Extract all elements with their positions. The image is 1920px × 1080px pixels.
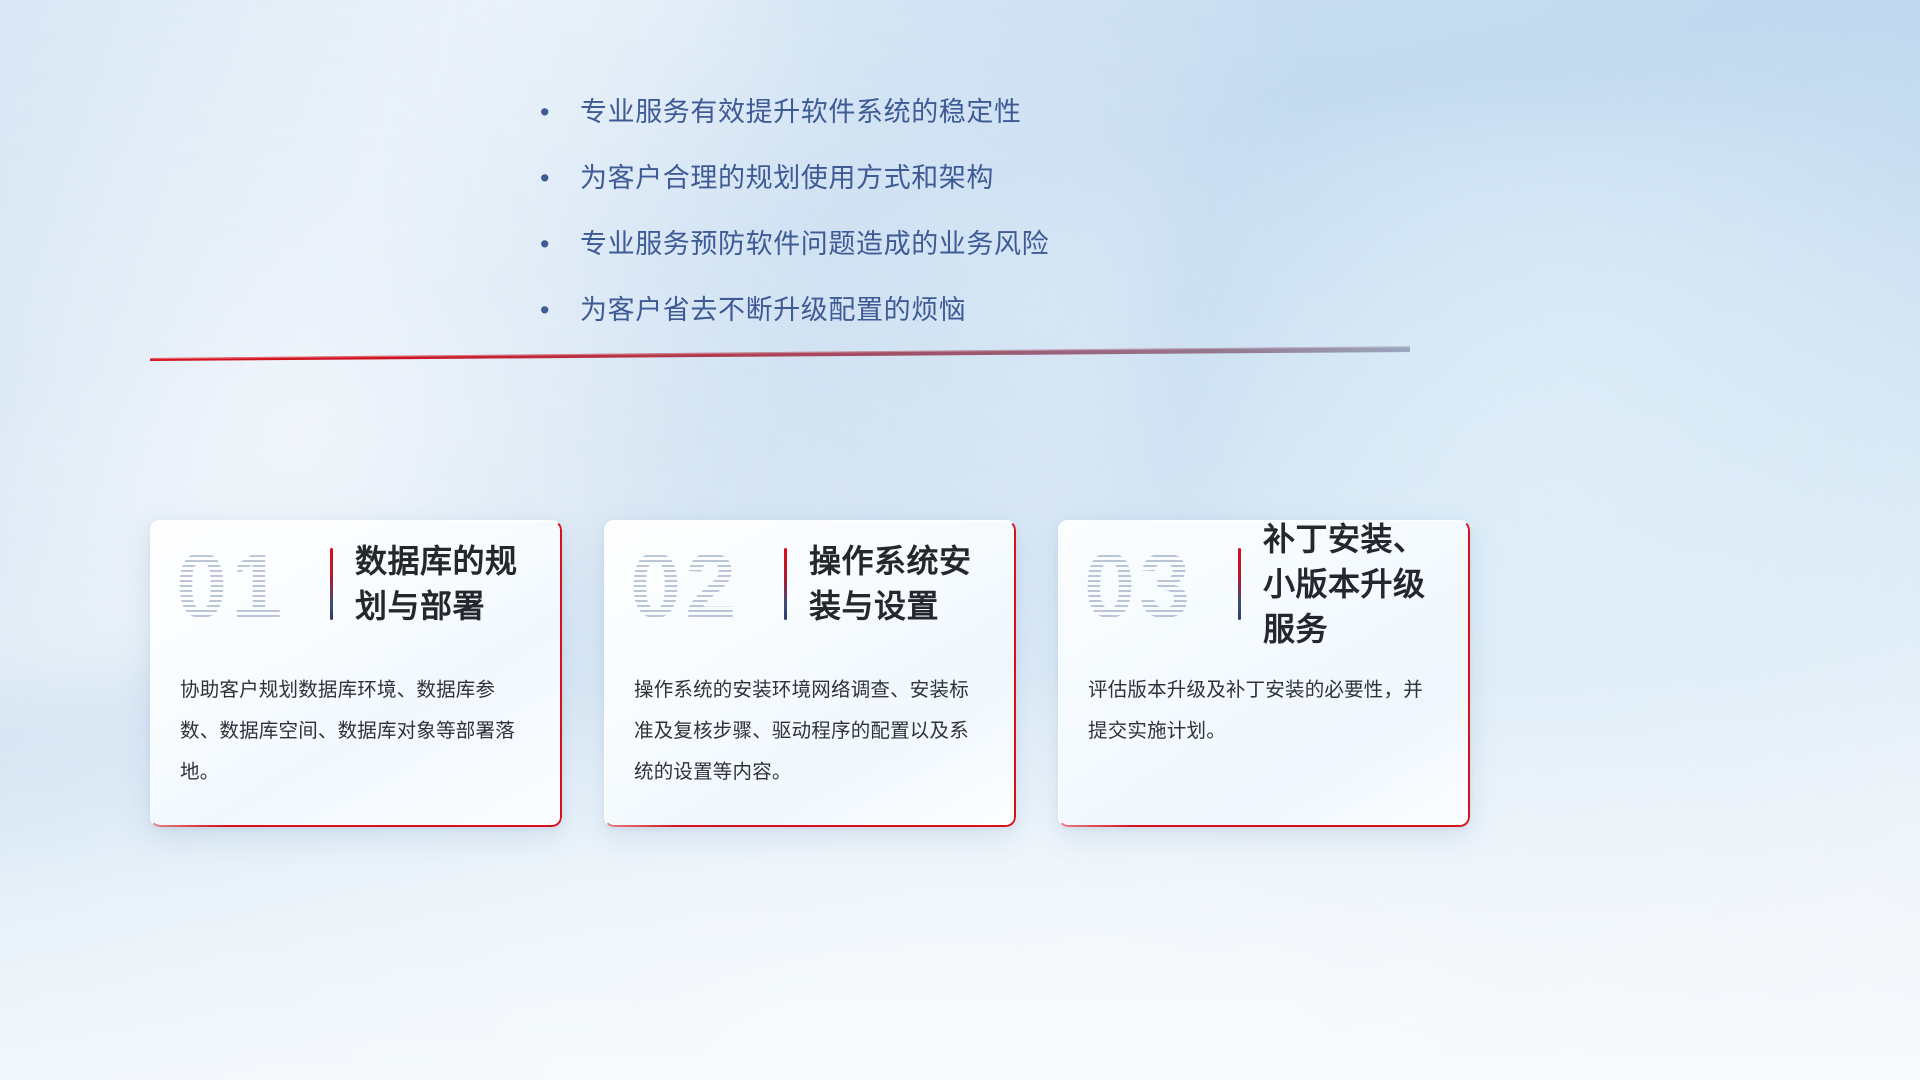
service-card-02[interactable]: 02 操作系统安装与设置 操作系统的安装环境网络调查、安装标准及复核步骤、驱动程… [604, 520, 1016, 827]
card-title-accent-bar [784, 548, 787, 620]
card-title: 数据库的规划与部署 [355, 539, 540, 629]
card-description: 协助客户规划数据库环境、数据库参数、数据库空间、数据库对象等部署落地。 [150, 648, 562, 793]
service-card-01[interactable]: 01 数据库的规划与部署 协助客户规划数据库环境、数据库参数、数据库空间、数据库… [150, 520, 562, 827]
card-header: 03 补丁安装、小版本升级服务 [1058, 520, 1470, 648]
card-title: 补丁安装、小版本升级服务 [1263, 520, 1448, 652]
service-card-list: 01 数据库的规划与部署 协助客户规划数据库环境、数据库参数、数据库空间、数据库… [150, 520, 1470, 820]
bullet-item: • 为客户省去不断升级配置的烦恼 [540, 290, 1300, 330]
bullet-item: • 专业服务有效提升软件系统的稳定性 [540, 92, 1300, 132]
bullet-item-text: 为客户省去不断升级配置的烦恼 [580, 290, 966, 330]
card-title: 操作系统安装与设置 [809, 539, 994, 629]
slide-canvas: • 专业服务有效提升软件系统的稳定性 • 为客户合理的规划使用方式和架构 • 专… [0, 0, 1920, 1080]
service-card-03[interactable]: 03 补丁安装、小版本升级服务 评估版本升级及补丁安装的必要性，并提交实施计划。 [1058, 520, 1470, 827]
benefits-bullet-list: • 专业服务有效提升软件系统的稳定性 • 为客户合理的规划使用方式和架构 • 专… [540, 92, 1300, 356]
card-number-watermark: 02 [630, 540, 780, 632]
card-number-watermark: 01 [176, 540, 326, 632]
bullet-item-text: 专业服务有效提升软件系统的稳定性 [580, 92, 1022, 132]
card-title-accent-bar [330, 548, 333, 620]
card-description: 评估版本升级及补丁安装的必要性，并提交实施计划。 [1058, 648, 1470, 752]
card-number-watermark: 03 [1084, 540, 1234, 632]
bullet-item-text: 为客户合理的规划使用方式和架构 [580, 158, 994, 198]
bullet-marker-icon: • [540, 290, 580, 330]
card-header: 01 数据库的规划与部署 [150, 520, 562, 648]
bullet-item-text: 专业服务预防软件问题造成的业务风险 [580, 224, 1049, 264]
bullet-item: • 专业服务预防软件问题造成的业务风险 [540, 224, 1300, 264]
bullet-item: • 为客户合理的规划使用方式和架构 [540, 158, 1300, 198]
bullet-marker-icon: • [540, 158, 580, 198]
card-header: 02 操作系统安装与设置 [604, 520, 1016, 648]
bullet-marker-icon: • [540, 92, 580, 132]
card-title-accent-bar [1238, 548, 1241, 620]
card-description: 操作系统的安装环境网络调查、安装标准及复核步骤、驱动程序的配置以及系统的设置等内… [604, 648, 1016, 793]
bullet-marker-icon: • [540, 224, 580, 264]
